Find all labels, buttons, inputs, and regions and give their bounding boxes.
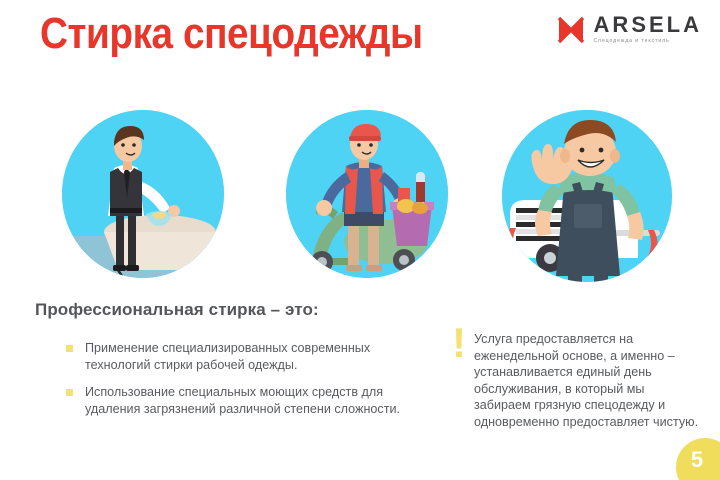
bullet-square-icon bbox=[66, 345, 73, 352]
service-callout: ! Услуга предоставляется на еженедельной… bbox=[452, 331, 702, 430]
list-item: Применение специализированных современны… bbox=[62, 340, 434, 373]
page-number-badge: 5 bbox=[676, 438, 720, 480]
list-item-text: Использование специальных моющих средств… bbox=[85, 385, 400, 416]
logo-text-block: ARSELA Спецодежда и текстиль bbox=[594, 14, 702, 45]
callout-text: Услуга предоставляется на еженедельной о… bbox=[474, 331, 702, 430]
benefits-list: Применение специализированных современны… bbox=[62, 340, 434, 428]
illustration-waiter-serving-table bbox=[62, 110, 224, 278]
presentation-slide: Стирка спецодежды ARSELA Спецодежда и те… bbox=[0, 0, 720, 480]
page-title: Стирка спецодежды bbox=[40, 8, 423, 60]
exclamation-mark-icon: ! bbox=[452, 328, 462, 430]
bullet-square-icon bbox=[66, 389, 73, 396]
list-item: Использование специальных моющих средств… bbox=[62, 384, 434, 417]
arsela-bowtie-mark-icon bbox=[556, 15, 586, 45]
page-number: 5 bbox=[691, 447, 703, 473]
section-heading: Профессиональная стирка – это: bbox=[35, 300, 319, 320]
illustration-courier-on-scooter bbox=[286, 110, 448, 278]
logo-tagline: Спецодежда и текстиль bbox=[594, 37, 702, 45]
logo-wordmark: ARSELA bbox=[594, 14, 702, 36]
brand-logo: ARSELA Спецодежда и текстиль bbox=[556, 14, 702, 45]
list-item-text: Применение специализированных современны… bbox=[85, 341, 370, 372]
illustration-worker-waving-near-van bbox=[502, 110, 672, 282]
